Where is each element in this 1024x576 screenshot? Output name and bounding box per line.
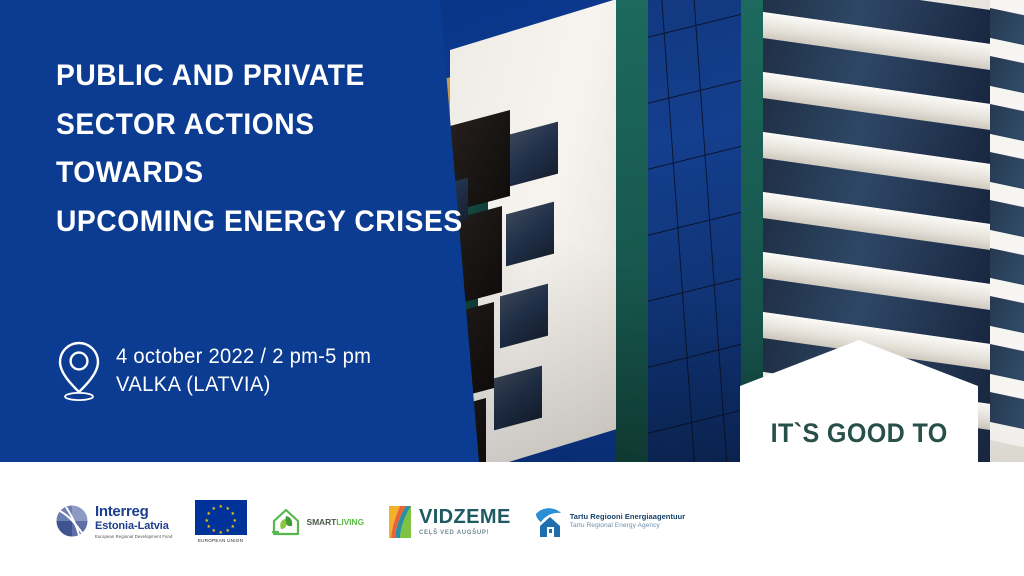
stairwell-frame-left [616,0,650,470]
event-details: 4 october 2022 / 2 pm-5 pm VALKA (LATVIA… [56,340,382,402]
tartu-title: Tartu Regiooni Energiaagentuur [570,513,686,522]
slogan-line-1: IT`S GOOD TO [771,420,948,447]
logo-interreg-estonia-latvia[interactable]: Interreg Estonia-Latvia European Regiona… [55,504,173,539]
logo-european-union[interactable]: ★ ★ ★ ★ ★ ★ ★ ★ ★ ★ ★ ★ EUROPEAN UNION [195,500,247,543]
smartliving-text-a: SMART [307,517,337,527]
title-line-1: PUBLIC AND PRIVATE [56,52,451,101]
interreg-fineprint: European Regional Development Fund [95,535,173,539]
far-right-facade [990,0,1024,470]
footer-bar: Interreg Estonia-Latvia European Regiona… [0,462,1024,576]
page-title: PUBLIC AND PRIVATE SECTOR ACTIONS TOWARD… [56,52,476,246]
event-location: VALKA (LATVIA) [116,373,371,397]
eu-label: EUROPEAN UNION [198,538,243,543]
tartu-text: Tartu Regiooni Energiaagentuur Tartu Reg… [570,513,686,529]
stairwell-glass [648,0,744,470]
logo-vidzeme[interactable]: VIDZEME CEĻŠ VED AUGŠUP! [386,504,511,540]
smartliving-text-b: LIVING [336,517,364,527]
interreg-swirl-icon [55,504,89,538]
interreg-title: Interreg [95,504,173,519]
smartliving-text: SMARTLIVING [307,517,364,527]
vidzeme-title: VIDZEME [419,507,511,527]
title-line-3: TOWARDS [56,149,451,198]
green-house-leaf-icon [269,506,303,538]
logo-tartu-regional-energy-agency[interactable]: Tartu Regiooni Energiaagentuur Tartu Reg… [533,505,686,539]
title-line-4: UPCOMING ENERGY CRISES [56,198,451,247]
tartu-subtitle: Tartu Regional Energy Agency [570,522,686,530]
title-line-2: SECTOR ACTIONS [56,101,451,150]
event-details-text: 4 october 2022 / 2 pm-5 pm VALKA (LATVIA… [116,345,382,397]
vidzeme-tagline: CEĻŠ VED AUGŠUP! [419,530,511,536]
eu-flag-icon: ★ ★ ★ ★ ★ ★ ★ ★ ★ ★ ★ ★ [195,500,247,535]
tartu-house-swoosh-icon [533,505,565,539]
vidzeme-text: VIDZEME CEĻŠ VED AUGŠUP! [419,507,511,536]
partner-logos: Interreg Estonia-Latvia European Regiona… [55,500,685,543]
vidzeme-stripes-icon [386,504,414,540]
logo-smartliving[interactable]: SMARTLIVING [269,506,364,538]
event-datetime: 4 october 2022 / 2 pm-5 pm [116,345,371,369]
event-poster: PUBLIC AND PRIVATE SECTOR ACTIONS TOWARD… [0,0,1024,576]
location-pin-icon [56,340,102,402]
interreg-subtitle: Estonia-Latvia [95,521,173,532]
interreg-text: Interreg Estonia-Latvia European Regiona… [95,504,173,539]
